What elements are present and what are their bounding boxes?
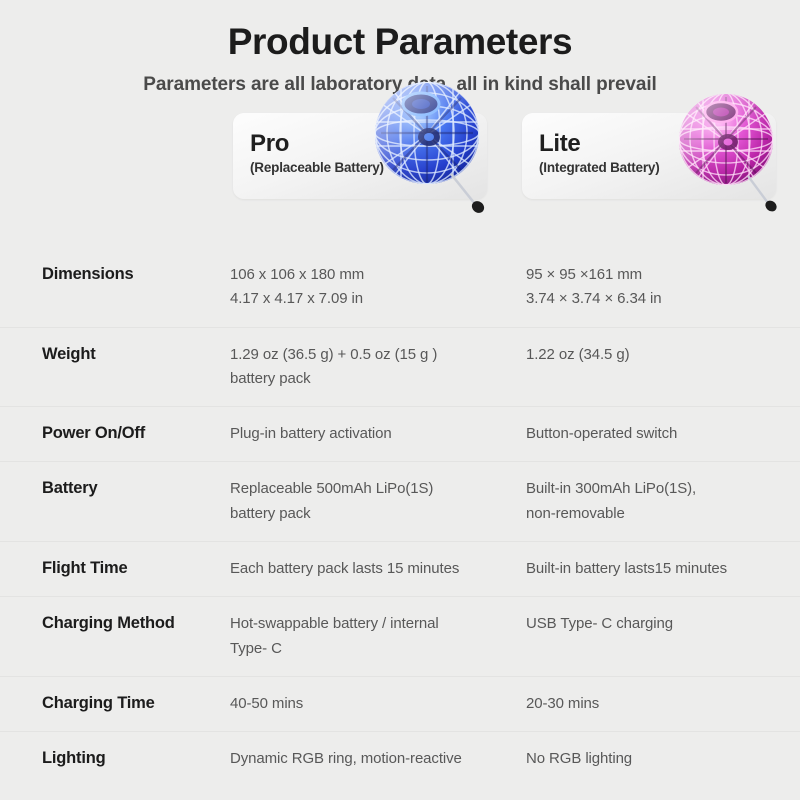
table-row: Battery Replaceable 500mAh LiPo(1S) batt…: [0, 461, 800, 541]
product-card-lite-text: Lite (Integrated Battery): [539, 131, 660, 175]
spec-label: Charging Time: [0, 692, 196, 714]
spec-value-pro-line2: battery pack: [230, 502, 494, 526]
spec-value-lite-line1: Built-in 300mAh LiPo(1S),: [526, 480, 696, 497]
product-card-pro[interactable]: Pro (Replaceable Battery): [233, 113, 487, 199]
spec-value-lite-line1: 20-30 mins: [526, 695, 599, 712]
spec-value-lite-line1: No RGB lighting: [526, 750, 632, 767]
spec-value-lite: USB Type- C charging: [494, 612, 784, 636]
spec-label: Weight: [0, 343, 196, 365]
table-row: Dimensions 106 x 106 x 180 mm 4.17 x 4.1…: [0, 248, 800, 327]
product-name-pro: Pro: [250, 131, 384, 156]
spec-value-pro-line2: 4.17 x 4.17 x 7.09 in: [230, 287, 494, 311]
spec-value-pro-line1: Hot-swappable battery / internal: [230, 615, 439, 632]
page-subtitle: Parameters are all laboratory data, all …: [0, 74, 800, 96]
spec-value-pro-line1: 106 x 106 x 180 mm: [230, 266, 364, 283]
spec-label: Battery: [0, 477, 196, 499]
spec-value-pro-line2: Type- C: [230, 637, 494, 661]
spec-value-pro-line1: 1.29 oz (36.5 g) + 0.5 oz (15 g ): [230, 346, 437, 363]
table-row: Charging Time 40-50 mins 20-30 mins: [0, 676, 800, 731]
spec-value-pro: Dynamic RGB ring, motion-reactive: [196, 747, 494, 771]
spec-value-pro-line1: 40-50 mins: [230, 695, 303, 712]
spec-value-pro: 1.29 oz (36.5 g) + 0.5 oz (15 g ) batter…: [196, 343, 494, 392]
product-name-lite: Lite: [539, 131, 660, 156]
spec-value-lite-line1: USB Type- C charging: [526, 615, 673, 632]
spec-value-lite: Button-operated switch: [494, 422, 784, 446]
spec-value-lite-line1: Built-in battery lasts15 minutes: [526, 560, 727, 577]
spec-value-pro: Hot-swappable battery / internal Type- C: [196, 612, 494, 661]
spec-value-lite-line1: 95 × 95 ×161 mm: [526, 266, 642, 283]
spec-value-lite: 20-30 mins: [494, 692, 784, 716]
spec-table: Dimensions 106 x 106 x 180 mm 4.17 x 4.1…: [0, 248, 800, 787]
spec-value-pro: 40-50 mins: [196, 692, 494, 716]
product-card-pro-text: Pro (Replaceable Battery): [250, 131, 384, 175]
spec-value-pro: Each battery pack lasts 15 minutes: [196, 557, 494, 581]
spec-value-pro: 106 x 106 x 180 mm 4.17 x 4.17 x 7.09 in: [196, 263, 494, 312]
product-card-lite[interactable]: Lite (Integrated Battery): [522, 113, 776, 199]
spec-value-lite-line1: Button-operated switch: [526, 425, 677, 442]
table-row: Charging Method Hot-swappable battery / …: [0, 596, 800, 676]
spec-label: Lighting: [0, 747, 196, 769]
spec-value-lite: Built-in 300mAh LiPo(1S), non-removable: [494, 477, 784, 526]
product-subtitle-pro: (Replaceable Battery): [250, 160, 384, 175]
spec-value-pro: Replaceable 500mAh LiPo(1S) battery pack: [196, 477, 494, 526]
spec-value-lite: No RGB lighting: [494, 747, 784, 771]
spec-label: Charging Method: [0, 612, 196, 634]
product-header-cards: Pro (Replaceable Battery) Lite (Integrat…: [0, 113, 800, 213]
spec-label: Power On/Off: [0, 422, 196, 444]
table-row: Lighting Dynamic RGB ring, motion-reacti…: [0, 731, 800, 786]
page-header: Product Parameters Parameters are all la…: [0, 0, 800, 96]
spec-value-lite-line1: 1.22 oz (34.5 g): [526, 346, 629, 363]
spec-value-pro-line1: Replaceable 500mAh LiPo(1S): [230, 480, 433, 497]
spec-value-pro-line2: battery pack: [230, 367, 494, 391]
page-title: Product Parameters: [0, 22, 800, 63]
spec-value-lite: 95 × 95 ×161 mm 3.74 × 3.74 × 6.34 in: [494, 263, 784, 312]
spec-value-lite: 1.22 oz (34.5 g): [494, 343, 784, 367]
spec-value-lite: Built-in battery lasts15 minutes: [494, 557, 784, 581]
table-row: Weight 1.29 oz (36.5 g) + 0.5 oz (15 g )…: [0, 327, 800, 407]
spec-label: Flight Time: [0, 557, 196, 579]
spec-value-pro-line1: Each battery pack lasts 15 minutes: [230, 560, 459, 577]
spec-label: Dimensions: [0, 263, 196, 285]
spec-value-lite-line2: non-removable: [526, 502, 784, 526]
spec-value-lite-line2: 3.74 × 3.74 × 6.34 in: [526, 287, 784, 311]
table-row: Power On/Off Plug-in battery activation …: [0, 406, 800, 461]
spec-value-pro: Plug-in battery activation: [196, 422, 494, 446]
product-subtitle-lite: (Integrated Battery): [539, 160, 660, 175]
spec-value-pro-line1: Dynamic RGB ring, motion-reactive: [230, 750, 462, 767]
table-row: Flight Time Each battery pack lasts 15 m…: [0, 541, 800, 596]
spec-value-pro-line1: Plug-in battery activation: [230, 425, 392, 442]
